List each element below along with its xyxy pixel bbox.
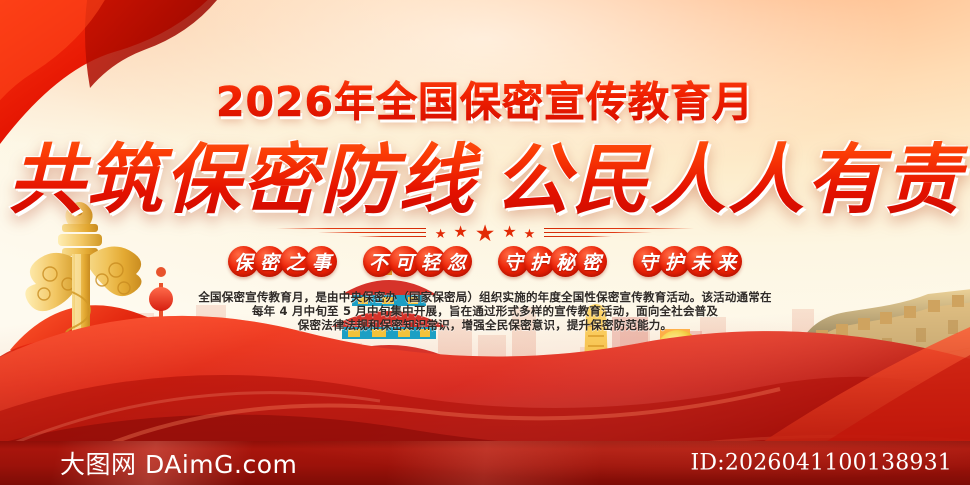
paragraph-line: 每年 4 月中旬至 5 月中旬集中开展，旨在通过形式多样的宣传教育活动，面向全社…: [0, 304, 970, 318]
divider-line-left: [276, 228, 426, 239]
slogan-char: 事: [306, 246, 337, 277]
slogan-item: 守 护 秘 密: [498, 246, 607, 277]
description-paragraph: 全国保密宣传教育月，是由中央保密办（国家保密局）组织实施的年度全国性保密宣传教育…: [0, 290, 970, 333]
divider-stars: ★ ★ ★ ★ ★: [426, 222, 545, 245]
slogan-char: 来: [711, 246, 742, 277]
star-icon: ★: [453, 225, 467, 241]
star-divider: ★ ★ ★ ★ ★: [0, 222, 970, 244]
main-title-part2: 公民人人有责: [494, 135, 962, 224]
star-icon: ★: [524, 227, 536, 240]
paragraph-line: 保密法律法规和保密知识常识，增强全民保密意识，提升保密防范能力。: [0, 318, 970, 332]
image-id-label: ID:2026041100138931: [691, 451, 953, 476]
slogan-char: 忽: [441, 246, 472, 277]
slogan-item: 守 护 未 来: [633, 246, 742, 277]
main-title: 共筑保密防线公民人人有责: [0, 118, 970, 228]
slogan-item: 不 可 轻 忽: [363, 246, 472, 277]
slogan-row: 保 密 之 事 不 可 轻 忽 守 护 秘 密 守 护 未 来: [0, 246, 970, 277]
star-icon: ★: [435, 227, 447, 240]
bottom-watermark-bar: 大图网 DAimG.com ID:2026041100138931: [0, 441, 970, 485]
star-icon: ★: [475, 222, 496, 245]
site-watermark: 大图网 DAimG.com: [60, 445, 297, 481]
divider-line-right: [544, 228, 694, 239]
slogan-item: 保 密 之 事: [228, 246, 337, 277]
paragraph-line: 全国保密宣传教育月，是由中央保密办（国家保密局）组织实施的年度全国性保密宣传教育…: [0, 290, 970, 304]
star-icon: ★: [502, 225, 516, 241]
main-title-part1: 共筑保密防线: [8, 135, 476, 224]
poster-canvas: 2026年全国保密宣传教育月 共筑保密防线公民人人有责 ★ ★ ★ ★ ★ 保 …: [0, 0, 970, 485]
slogan-char: 密: [576, 246, 607, 277]
